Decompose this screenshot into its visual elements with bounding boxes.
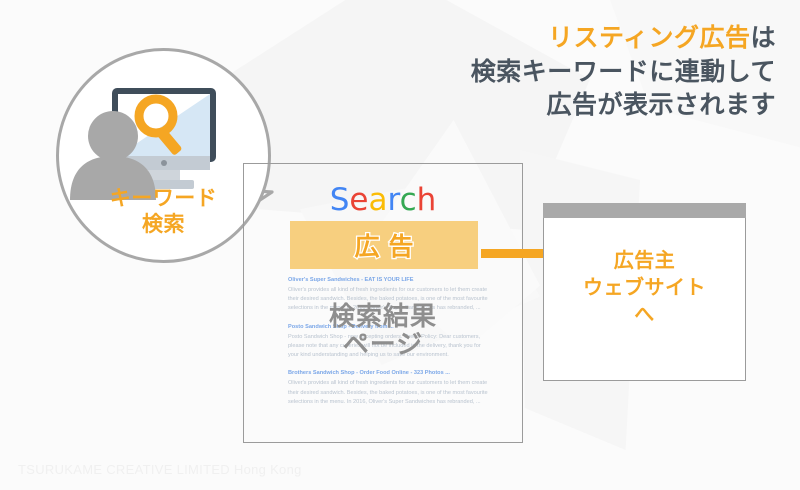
keyword-search-label-line-1: キーワード xyxy=(56,186,271,212)
search-logo-letter: h xyxy=(417,182,437,218)
ad-banner[interactable]: 広告 xyxy=(290,221,478,269)
keyword-search-label-line-2: 検索 xyxy=(56,212,271,238)
search-logo-letter: r xyxy=(387,182,399,218)
advertiser-website-label: 広告主 ウェブサイト へ xyxy=(543,248,746,329)
search-result-item[interactable]: Brothers Sandwich Shop - Order Food Onli… xyxy=(288,369,488,407)
search-results-page-caption-line-1: 検索結果 xyxy=(243,302,523,330)
advertiser-website-label-line-2: ウェブサイト xyxy=(543,275,746,302)
footer-credit: TSURUKAME CREATIVE LIMITED Hong Kong xyxy=(18,462,302,477)
search-result-title[interactable]: Oliver's Super Sandwiches - EAT IS YOUR … xyxy=(288,276,488,284)
advertiser-website-label-line-3: へ xyxy=(543,302,746,329)
advertiser-website-label-line-1: 広告主 xyxy=(543,248,746,275)
search-logo-letter: a xyxy=(368,182,387,218)
advertiser-website-header-bar xyxy=(543,203,746,218)
keyword-search-label: キーワード 検索 xyxy=(56,186,271,237)
search-result-title[interactable]: Brothers Sandwich Shop - Order Food Onli… xyxy=(288,369,488,377)
search-logo-letter: e xyxy=(349,182,368,218)
search-logo-letter: c xyxy=(400,182,417,218)
search-logo: Search xyxy=(243,182,523,218)
search-result-snippet: Oliver's provides all kind of fresh ingr… xyxy=(288,379,488,406)
headline: リスティング広告は 検索キーワードに連動して 広告が表示されます xyxy=(471,22,776,123)
headline-line-1: リスティング広告は xyxy=(471,22,776,56)
headline-accent: リスティング広告 xyxy=(548,24,751,52)
search-logo-letter: S xyxy=(330,182,350,218)
search-results-page-caption-line-2: ページ xyxy=(243,330,523,358)
slide-canvas: リスティング広告は 検索キーワードに連動して 広告が表示されます xyxy=(0,0,800,490)
search-results-page-caption: 検索結果 ページ xyxy=(243,302,523,358)
headline-line-2: 検索キーワードに連動して xyxy=(471,56,776,90)
ad-banner-label: 広告 xyxy=(345,227,422,263)
headline-line-3: 広告が表示されます xyxy=(471,89,776,123)
headline-line-1-rest: は xyxy=(750,24,776,52)
